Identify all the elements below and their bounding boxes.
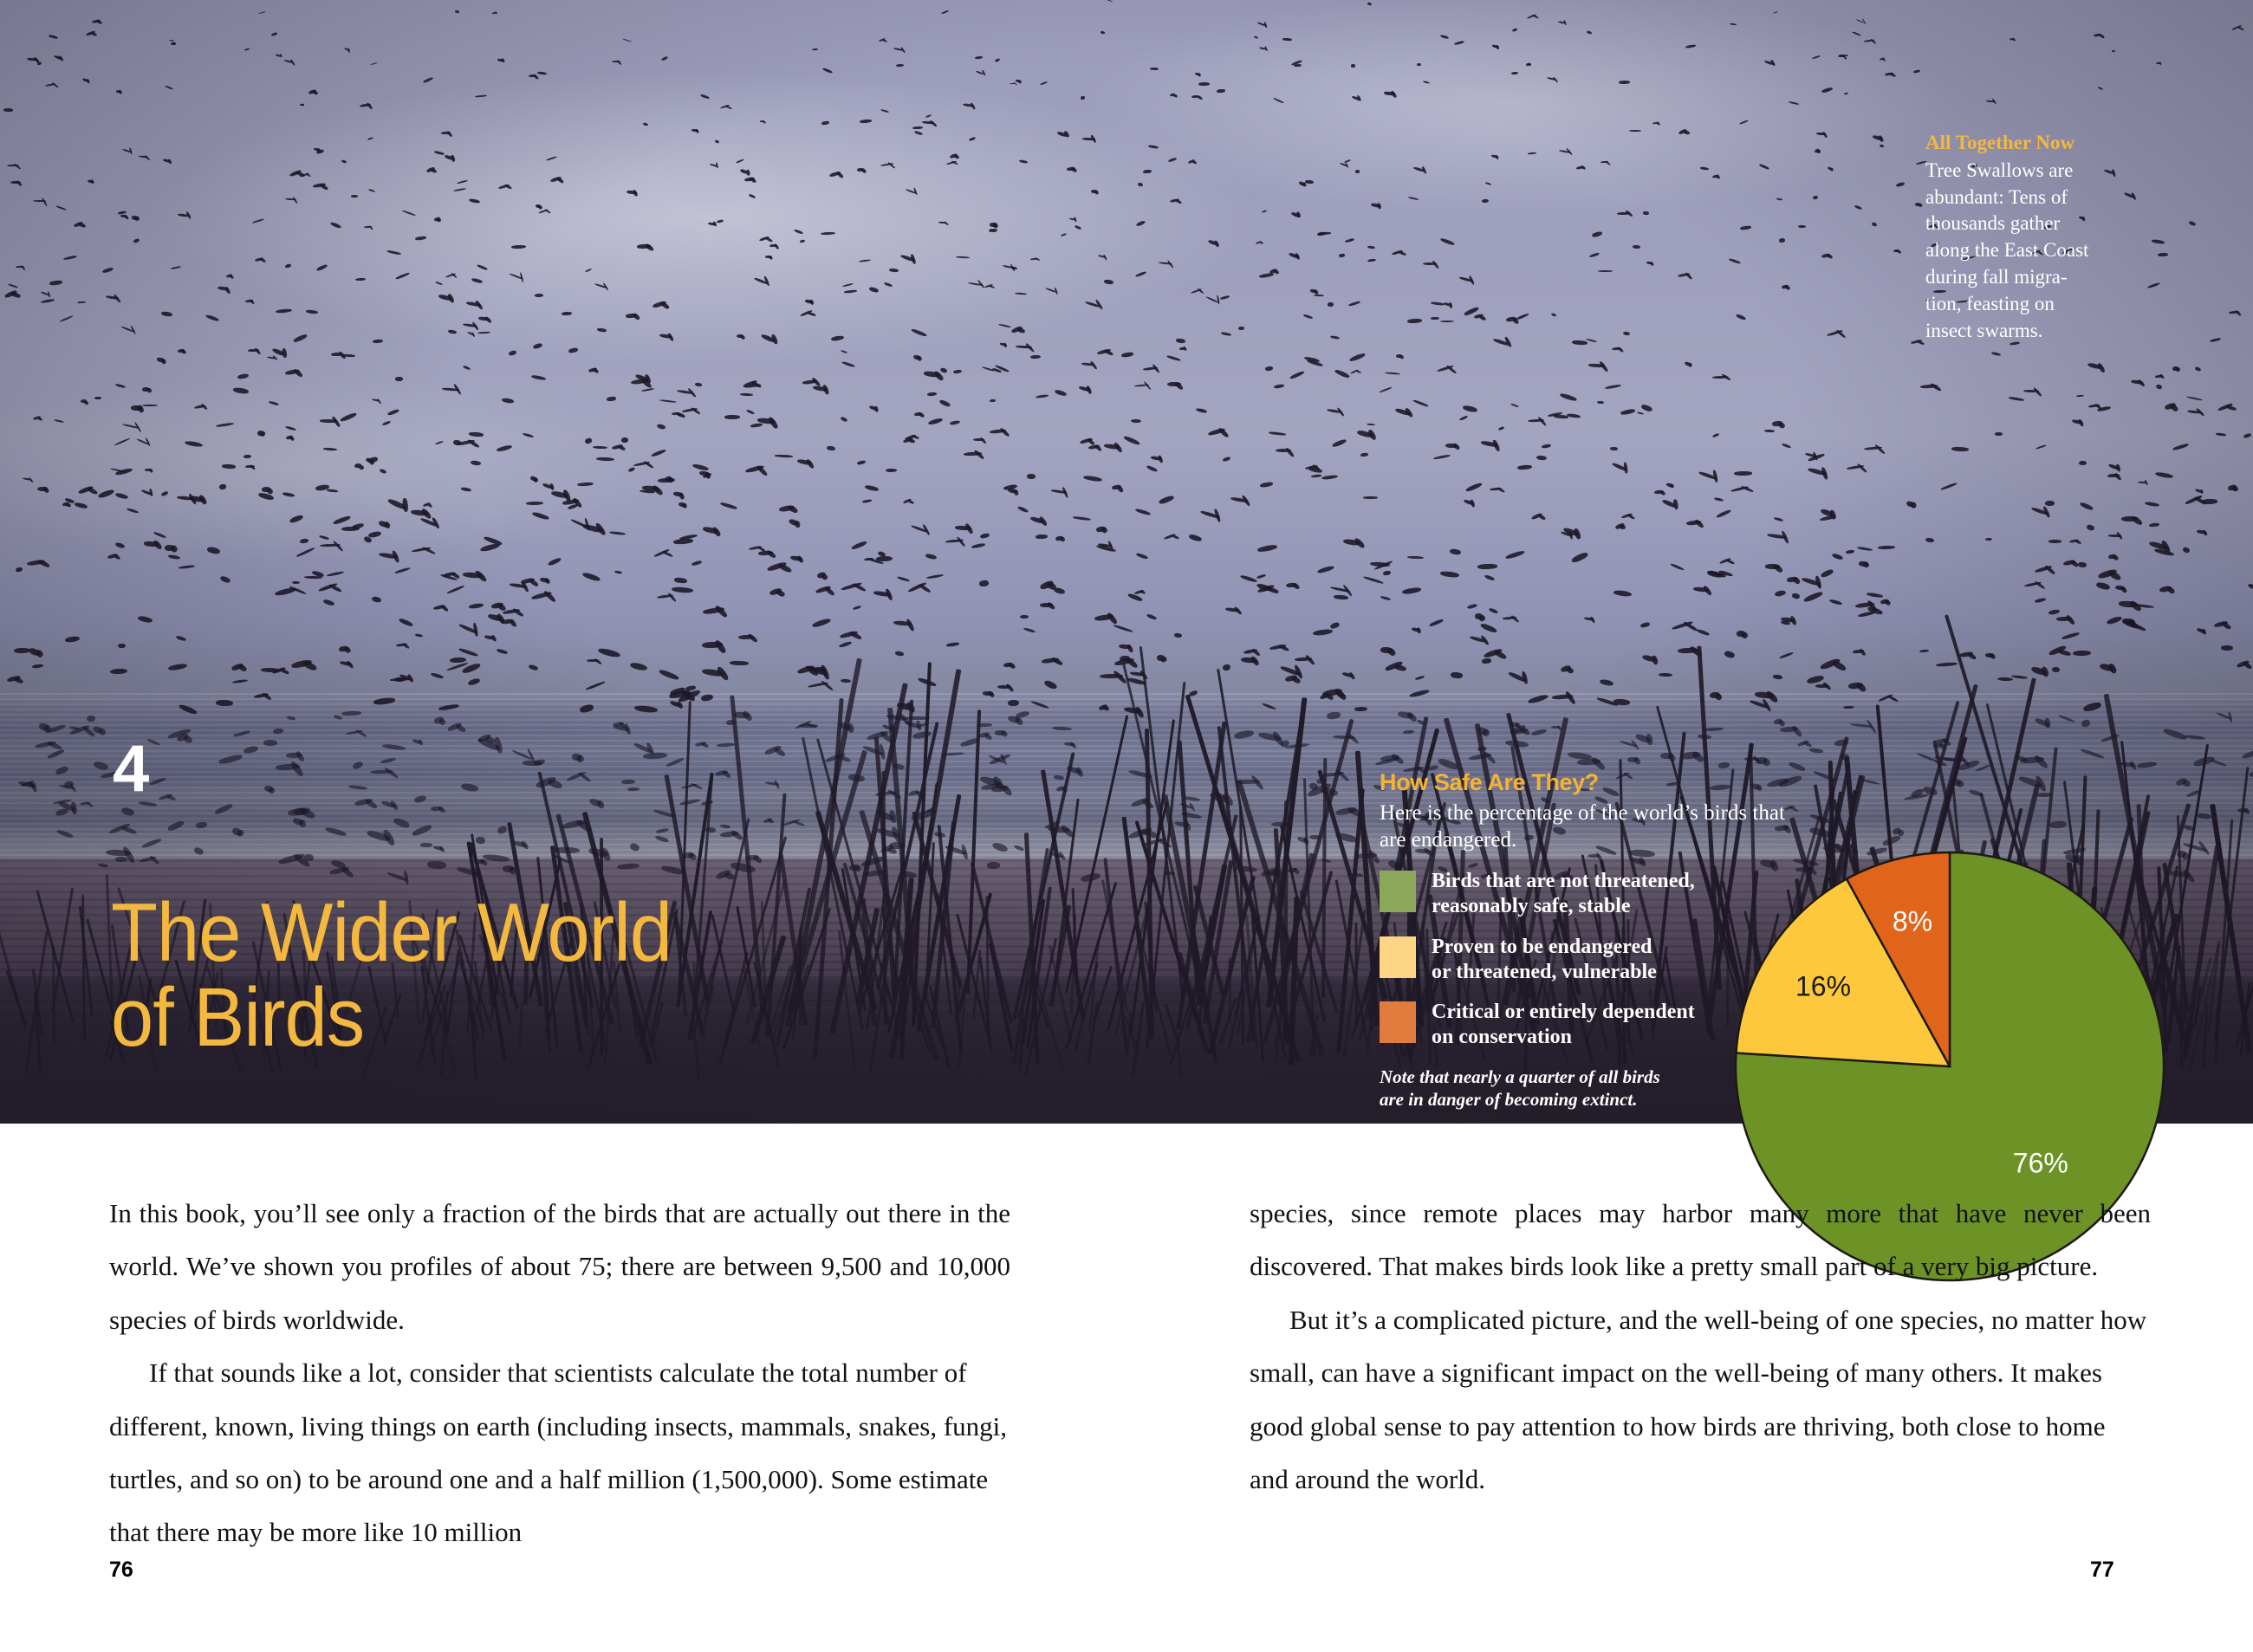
- legend-swatch-green: [1380, 871, 1416, 912]
- paragraph: If that sounds like a lot, consider that…: [109, 1346, 1010, 1559]
- grass-blade: [52, 946, 55, 1044]
- grass-blade: [1355, 923, 1359, 1027]
- swallow-caption: All Together Now Tree Swallows are abund…: [1925, 130, 2126, 345]
- legend-label-not-threatened: Birds that are not threatened, reasonabl…: [1432, 869, 1695, 920]
- swallow-caption-title: All Together Now: [1925, 130, 2126, 157]
- paragraph: species, since remote places may harbor …: [1250, 1187, 2151, 1293]
- grass-blade: [1101, 879, 1128, 1012]
- infographic-subtitle: Here is the percentage of the world’s bi…: [1380, 800, 1787, 853]
- paragraph: In this book, you’ll see only a fraction…: [109, 1187, 1010, 1346]
- legend-label-endangered: Proven to be endangered or threatened, v…: [1432, 935, 1657, 986]
- chapter-number: 4: [113, 736, 148, 802]
- grass-blade: [24, 930, 49, 1073]
- legend-swatch-orange: [1380, 1001, 1416, 1043]
- grass-blade: [989, 943, 1014, 1053]
- paragraph: But it’s a complicated picture, and the …: [1250, 1293, 2151, 1506]
- infographic-title: How Safe Are They?: [1380, 769, 1813, 796]
- grass-blade: [81, 895, 86, 1041]
- body-text-left-column: In this book, you’ll see only a fraction…: [109, 1187, 1010, 1559]
- body-text-right-column: species, since remote places may harbor …: [1250, 1187, 2151, 1506]
- page-number-right: 77: [2090, 1558, 2114, 1583]
- legend-swatch-yellow: [1380, 936, 1416, 978]
- grass-blade: [2163, 744, 2209, 1013]
- pie-slice-label: 16%: [1795, 970, 1851, 1001]
- legend-label-critical: Critical or entirely dependent on conser…: [1432, 1000, 1695, 1051]
- chapter-title: The Wider World of Birds: [111, 891, 672, 1060]
- pie-slice-label: 8%: [1893, 906, 1932, 937]
- page-number-left: 76: [109, 1558, 133, 1583]
- swallow-caption-body: Tree Swallows are abundant: Tens of thou…: [1925, 158, 2126, 345]
- book-page-spread: 4 The Wider World of Birds All Together …: [0, 0, 2253, 1652]
- grass-blade: [1228, 958, 1230, 1022]
- pie-slice-label: 76%: [2013, 1148, 2068, 1179]
